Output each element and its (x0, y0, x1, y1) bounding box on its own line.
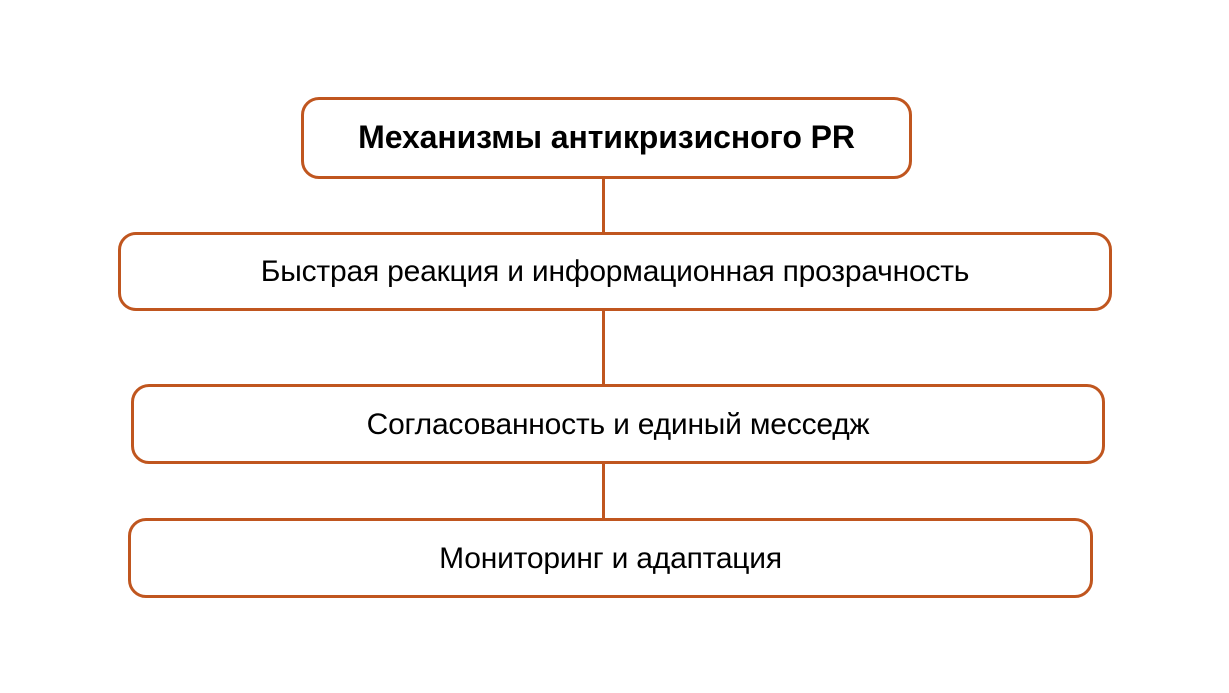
diagram-node-step2-label: Согласованность и единый месседж (353, 408, 884, 441)
connector-root-step1 (602, 178, 605, 233)
diagram-canvas: Механизмы антикризисного PR Быстрая реак… (0, 0, 1229, 693)
diagram-node-step3: Мониторинг и адаптация (128, 518, 1093, 598)
diagram-node-step3-label: Мониторинг и адаптация (425, 542, 796, 575)
diagram-node-step2: Согласованность и единый месседж (131, 384, 1105, 464)
diagram-node-root: Механизмы антикризисного PR (301, 97, 912, 179)
diagram-node-step1-label: Быстрая реакция и информационная прозрач… (247, 255, 983, 288)
connector-step2-step3 (602, 463, 605, 519)
diagram-node-root-label: Механизмы антикризисного PR (344, 120, 869, 155)
connector-step1-step2 (602, 310, 605, 385)
diagram-node-step1: Быстрая реакция и информационная прозрач… (118, 232, 1112, 311)
